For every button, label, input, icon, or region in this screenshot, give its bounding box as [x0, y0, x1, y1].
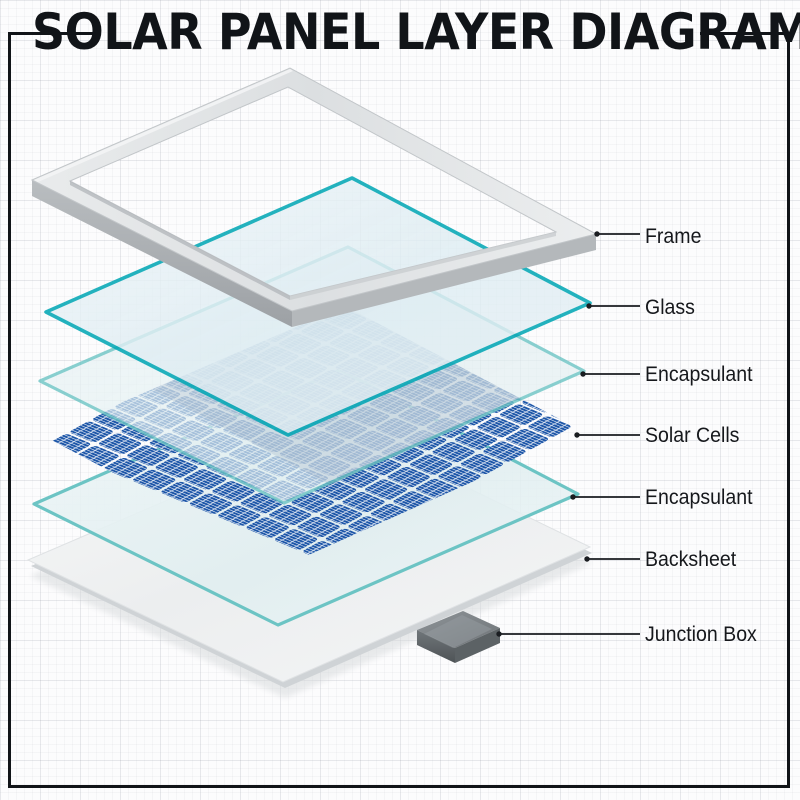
diagram-canvas: SOLAR PANEL LAYER DIAGRAM	[0, 0, 800, 800]
label-backsheet[interactable]: Backsheet	[645, 549, 736, 570]
label-encapsulant-top[interactable]: Encapsulant	[645, 364, 753, 385]
label-glass[interactable]: Glass	[645, 297, 695, 318]
leader-solar-cells	[574, 432, 640, 437]
label-solar-cells[interactable]: Solar Cells	[645, 425, 739, 446]
leader-encapsulant-bottom	[570, 494, 640, 499]
leader-junction-box	[496, 631, 640, 636]
leader-glass	[586, 303, 640, 308]
label-junction-box[interactable]: Junction Box	[645, 624, 757, 645]
leader-backsheet	[584, 556, 640, 561]
leader-encapsulant-top	[580, 371, 640, 376]
leader-frame	[594, 231, 640, 236]
solar-panel-exploded-illustration	[0, 0, 800, 800]
label-frame[interactable]: Frame	[645, 226, 701, 247]
label-encapsulant-bottom[interactable]: Encapsulant	[645, 487, 753, 508]
